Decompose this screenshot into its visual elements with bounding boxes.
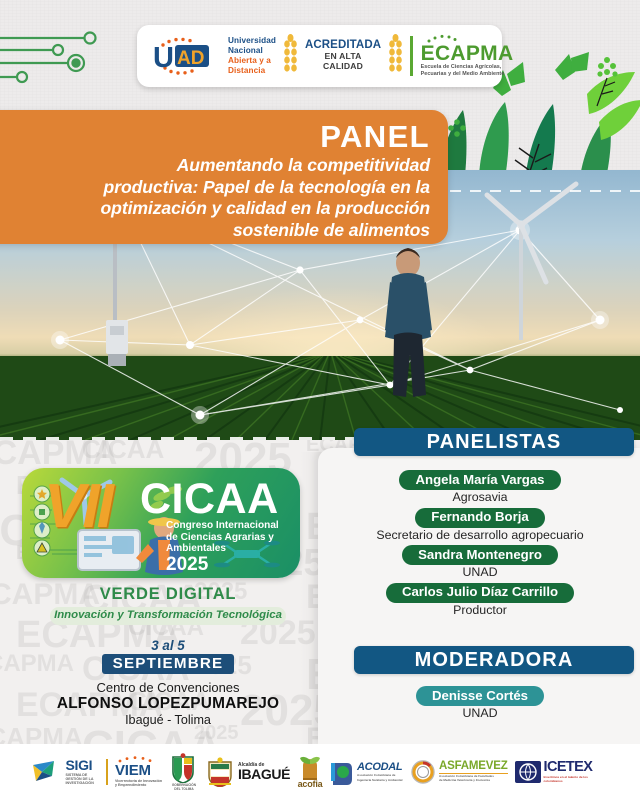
accreditation-line2: EN ALTA CALIDAD — [305, 51, 381, 72]
icetex-logo-icon: ICETEX Invertimos en el talento de los c… — [515, 760, 608, 784]
congress-year: 2025 — [166, 555, 208, 574]
person-role: Agrosavia — [330, 491, 630, 505]
event-day-range: 3 al 5 — [22, 638, 314, 653]
person-entry: Carlos Julio Díaz CarrilloProductor — [330, 583, 630, 618]
person-name-pill: Denisse Cortés — [416, 686, 544, 706]
person-name-pill: Fernando Borja — [415, 508, 544, 528]
congress-desc-1: Congreso Internacional — [166, 520, 292, 532]
person-entry: Denisse CortésUNAD — [330, 686, 630, 721]
person-entry: Sandra MontenegroUNAD — [330, 545, 630, 580]
venue-name: ALFONSO LOPEZPUMAREJO — [22, 695, 314, 713]
unad-line2: Abierta y a Distancia — [228, 56, 276, 76]
accreditation-line1: ACREDITADA — [305, 40, 381, 51]
acofia-logo-icon: acofia — [297, 754, 323, 789]
viem-name: VIEM — [115, 763, 163, 778]
moderator-banner: MODERADORA — [354, 646, 634, 674]
watermark-word: CICAA — [82, 440, 164, 465]
unad-logo-icon: U AD Universidad Nacional Abierta y a Di… — [151, 36, 276, 76]
tolima-shield-icon: GOBERNACIÓN DEL TOLIMA — [170, 753, 198, 792]
accreditation-badge: ACREDITADA EN ALTA CALIDAD — [305, 40, 381, 72]
event-poster: U AD Universidad Nacional Abierta y a Di… — [0, 0, 640, 800]
person-role: UNAD — [330, 566, 630, 580]
unad-line1: Universidad Nacional — [228, 36, 276, 56]
event-details: 3 al 5 SEPTIEMBRE Centro de Convenciones… — [22, 638, 314, 728]
ecapma-logo-icon: ECAPMA Escuela de Ciencias Agrícolas, Pe… — [421, 35, 514, 77]
sigi-logo-icon: SIGI SISTEMA DE GESTIÓN DE LA INVESTIGAC… — [32, 758, 99, 785]
congress-badge: VII CICAA Congreso Internacional de Cien… — [22, 468, 300, 578]
sigi-name: SIGI — [65, 758, 99, 772]
asfamevez-subtitle: Asociación Colombiana de Facultades de M… — [439, 774, 495, 783]
icetex-name: ICETEX — [544, 760, 608, 775]
viem-subtitle: Vicerrectoría de Innovación y Emprendimi… — [115, 779, 163, 788]
acodal-logo-icon: ACODAL Asociación Colombiana de Ingenier… — [330, 759, 403, 785]
panel-title-banner: PANEL Aumentando la competitividad produ… — [0, 110, 448, 244]
acodal-subtitle: Asociación Colombiana de Ingeniería Sani… — [357, 773, 403, 782]
sponsor-footer: SIGI SISTEMA DE GESTIÓN DE LA INVESTIGAC… — [0, 744, 640, 800]
congress-desc-2: de Ciencias Agrarias y — [166, 532, 292, 544]
panelists-list: Angela María VargasAgrosaviaFernando Bor… — [330, 470, 630, 620]
ecapma-acronym: ECAPMA — [421, 44, 514, 64]
panel-kicker: PANEL — [6, 120, 430, 154]
person-name-pill: Carlos Julio Díaz Carrillo — [386, 583, 574, 603]
asfamevez-name: ASFAMEVEZ — [439, 761, 508, 774]
logo-divider — [410, 36, 413, 76]
person-role: Productor — [330, 604, 630, 618]
congress-logo: VII CICAA Congreso Internacional de Cien… — [22, 468, 314, 625]
acofia-name: acofia — [297, 780, 323, 789]
tolima-subtitle: GOBERNACIÓN DEL TOLIMA — [170, 783, 198, 792]
wheat-icon — [284, 34, 297, 78]
svg-text:U: U — [153, 42, 174, 74]
panelists-banner: PANELISTAS — [354, 428, 634, 456]
sigi-subtitle: SISTEMA DE GESTIÓN DE LA INVESTIGACIÓN — [65, 773, 99, 786]
svg-text:AD: AD — [177, 48, 204, 69]
congress-tagline: VERDE DIGITAL — [22, 585, 314, 604]
wheat-icon-2 — [389, 34, 402, 78]
congress-edition: VII — [44, 476, 111, 538]
footer-divider — [106, 759, 108, 785]
person-name-pill: Angela María Vargas — [399, 470, 560, 490]
panel-title-line2: productiva: Papel de la tecnología en la — [6, 177, 430, 199]
acodal-name: ACODAL — [357, 762, 403, 773]
wind-turbine-icon — [487, 184, 576, 340]
icetex-subtitle: Invertimos en el talento de los colombia… — [544, 775, 608, 784]
venue-prefix: Centro de Convenciones — [22, 680, 314, 695]
panel-title-line3: optimización y calidad en la producción — [6, 198, 430, 220]
panel-title-line1: Aumentando la competitividad — [6, 155, 430, 177]
moderator-list: Denisse CortésUNAD — [330, 686, 630, 724]
venue-city: Ibagué - Tolima — [22, 713, 314, 728]
congress-subtagline: Innovación y Transformación Tecnológica — [50, 607, 286, 625]
person-entry: Angela María VargasAgrosavia — [330, 470, 630, 505]
institutional-logo-bar: U AD Universidad Nacional Abierta y a Di… — [137, 25, 502, 87]
asfamevez-logo-icon: ASFAMEVEZ Asociación Colombiana de Facul… — [410, 759, 508, 785]
event-month: SEPTIEMBRE — [102, 654, 235, 674]
ecapma-subtitle-2: Pecuarias y del Medio Ambiente — [421, 71, 514, 77]
person-name-pill: Sandra Montenegro — [402, 545, 558, 565]
person-entry: Fernando BorjaSecretario de desarrollo a… — [330, 508, 630, 543]
congress-acronym: CICAA — [140, 478, 279, 521]
person-role: UNAD — [330, 707, 630, 721]
ibague-shield-icon: Alcaldía de IBAGUÉ — [205, 757, 290, 787]
ibague-name: IBAGUÉ — [238, 767, 290, 781]
panel-title-line4: sostenible de alimentos — [6, 220, 430, 242]
person-role: Secretario de desarrollo agropecuario — [330, 529, 630, 543]
viem-logo-icon: VIEM Vicerrectoría de Innovación y Empre… — [115, 756, 163, 787]
ecapma-subtitle-1: Escuela de Ciencias Agrícolas, — [421, 64, 514, 70]
